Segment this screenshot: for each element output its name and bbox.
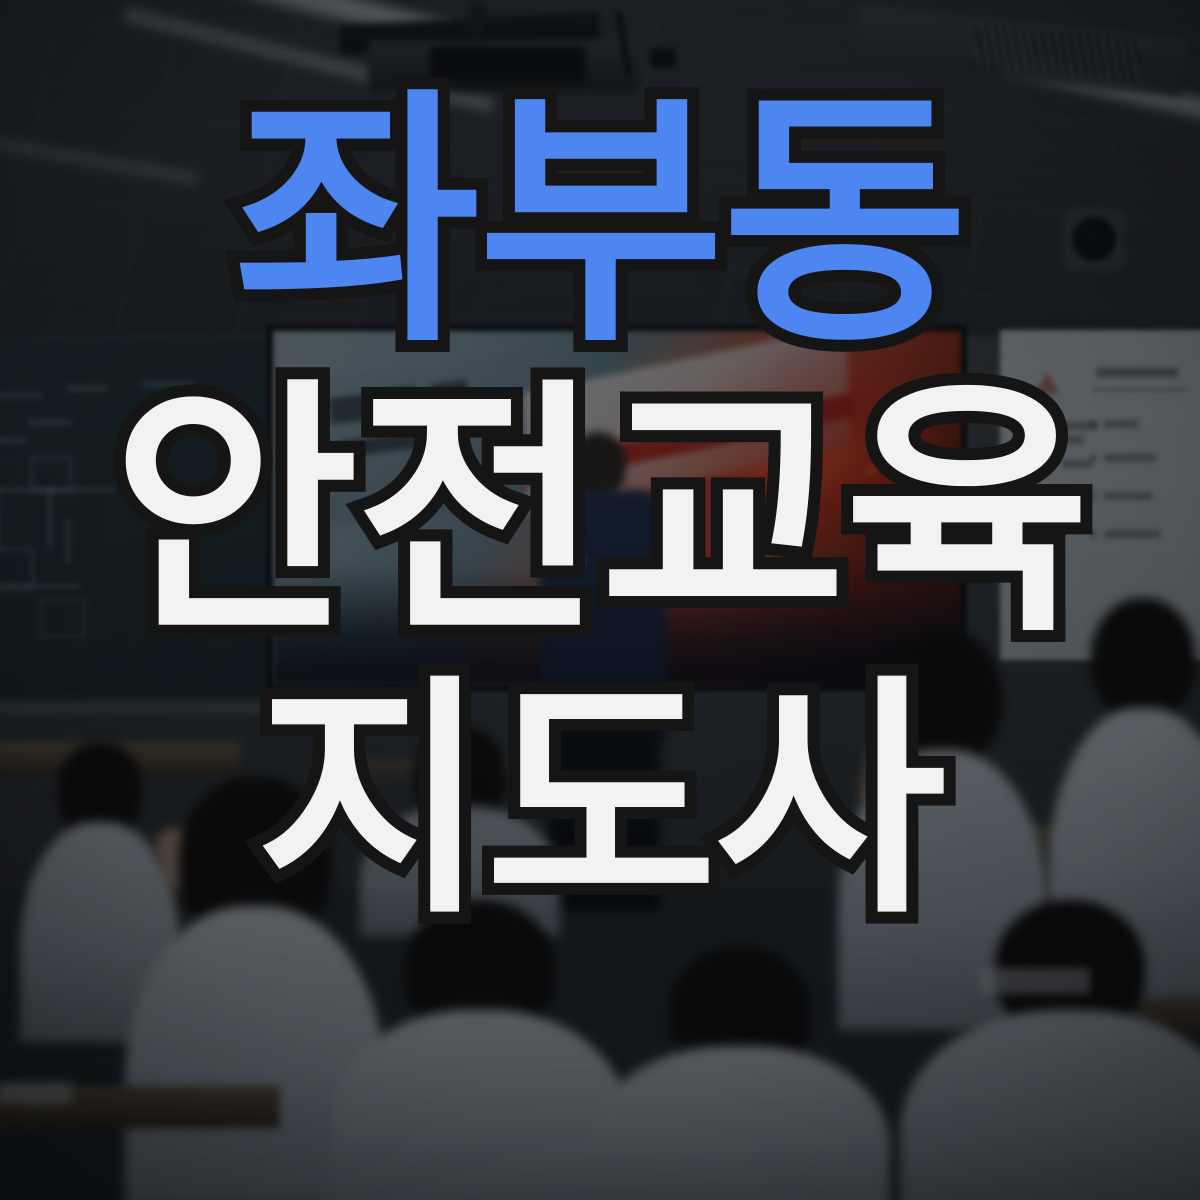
attendee	[900, 900, 1200, 1200]
blackboard-chalk-tray	[0, 700, 270, 716]
whiteboard-underline	[1092, 388, 1188, 391]
attendee-shoulders	[590, 1046, 890, 1200]
whiteboard-text-line	[1062, 460, 1092, 468]
presenter-uniform	[540, 490, 666, 740]
projector-cable-clip	[650, 48, 676, 68]
attendee-head	[1091, 598, 1195, 720]
chalk-diagram-connector	[0, 488, 116, 492]
whiteboard-list-item	[1104, 454, 1156, 462]
chalk-note-line	[142, 382, 194, 387]
background-photo	[0, 0, 1200, 1200]
chalk-diagram-box	[40, 598, 86, 638]
whiteboard-text-line	[1062, 436, 1084, 444]
projector-lens	[430, 46, 585, 82]
whiteboard-list-item	[1104, 492, 1152, 500]
projected-building-window	[381, 386, 418, 414]
wall-speaker-icon	[1063, 208, 1125, 270]
poster-canvas: 좌부동 좌부동 안전교육 안전교육 지도사 지도사	[0, 0, 1200, 1200]
chalk-diagram-connector	[66, 518, 70, 564]
attendee-shoulders	[330, 1010, 630, 1200]
whiteboard-list-number	[1090, 420, 1096, 428]
warning-triangle-icon	[1038, 426, 1058, 443]
presenter-head	[570, 432, 626, 498]
chalk-note-line	[28, 420, 72, 425]
chalk-note-line	[66, 386, 106, 391]
projector-mount-arm	[470, 4, 486, 34]
chalk-diagram-connector	[0, 584, 80, 588]
whiteboard-heading	[1096, 368, 1178, 377]
projected-building-window	[329, 394, 372, 425]
chalk-diagram-connector	[48, 486, 52, 550]
whiteboard-list-number	[1090, 492, 1096, 500]
handout-paper	[980, 968, 1090, 994]
whiteboard-list-item	[1104, 530, 1160, 538]
whiteboard-list-number	[1090, 454, 1096, 462]
chalk-note-line	[0, 438, 28, 443]
presenter-name-badge	[558, 556, 584, 567]
attendee	[590, 946, 890, 1200]
attendee	[330, 900, 630, 1200]
projected-fire-sparks	[692, 348, 962, 568]
warning-triangle-icon	[1034, 372, 1060, 394]
whiteboard-list-item	[1104, 420, 1138, 428]
chalk-note-line	[0, 393, 42, 398]
presenter-legs	[548, 720, 660, 910]
attendee-shoulders	[900, 1010, 1200, 1200]
whiteboard-list-number	[1090, 530, 1096, 538]
handout-paper	[0, 1082, 72, 1104]
projected-building-window	[431, 380, 469, 406]
blackboard	[0, 338, 280, 718]
